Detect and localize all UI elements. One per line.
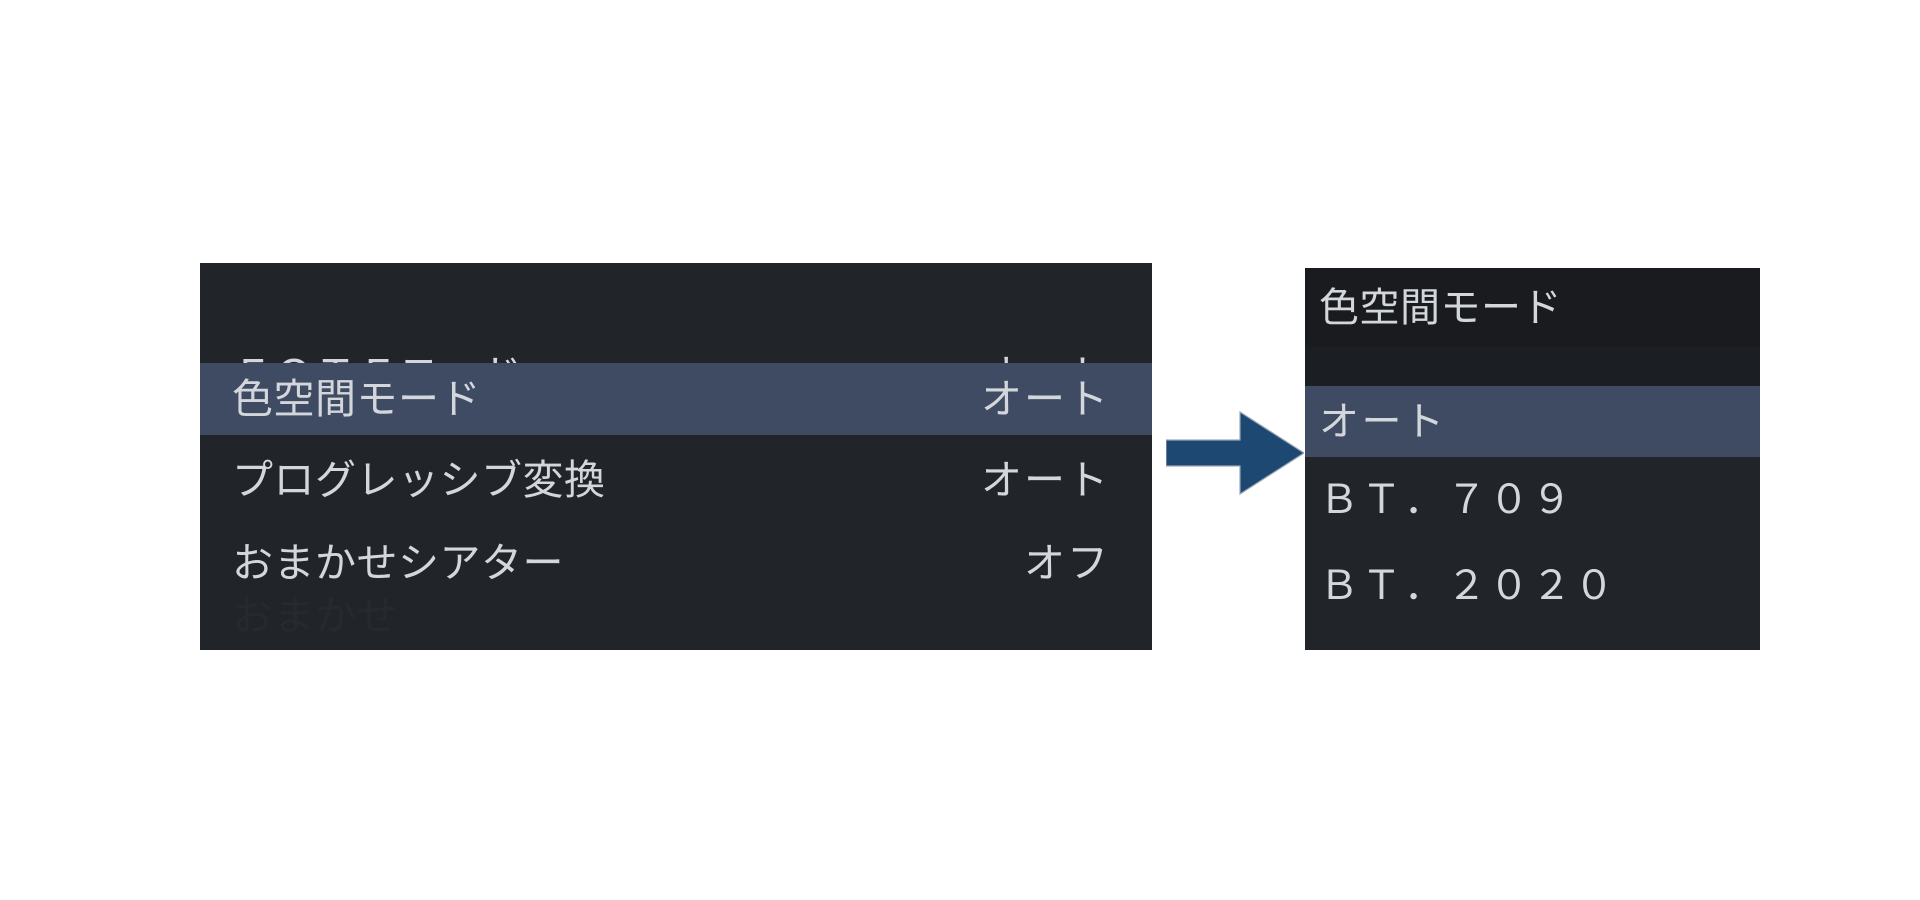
arrow-right-shape [1166,412,1304,494]
settings-menu-list: ＥＯＴＦモードオート色空間モードオートプログレッシブ変換オートおまかせシアターオ… [200,263,1152,650]
setting-row-label: おまかせシアター [232,543,564,584]
screenshot-stage: ＥＯＴＦモードオート色空間モードオートプログレッシブ変換オートおまかせシアターオ… [0,0,1920,900]
dialog-header: 色空間モード [1305,268,1760,347]
setting-row-label: 色空間モード [232,379,481,420]
dialog-title: 色空間モード [1319,288,1562,328]
option-row[interactable]: ＢＴ．７０９ [1305,457,1760,543]
setting-row-value: オート [981,379,1110,420]
option-row[interactable]: オート [1305,386,1760,457]
setting-row-partial-label: おまかせ [232,596,398,637]
color-space-mode-dialog: 色空間モード オートＢＴ．７０９ＢＴ．２０２０ [1305,268,1760,650]
arrow-right-icon [1166,408,1304,498]
settings-menu-panel: ＥＯＴＦモードオート色空間モードオートプログレッシブ変換オートおまかせシアターオ… [200,263,1152,650]
setting-row-value: オート [981,460,1110,501]
dialog-header-divider [1305,347,1760,386]
option-row-label: ＢＴ．７０９ [1319,480,1574,520]
setting-row[interactable]: 色空間モードオート [200,363,1152,435]
setting-row-partial: おまかせ [200,593,1152,639]
setting-row[interactable]: おまかせシアターオフ [200,525,1152,601]
setting-row[interactable]: プログレッシブ変換オート [200,435,1152,525]
option-row-label: オート [1319,402,1447,442]
option-row-label: ＢＴ．２０２０ [1319,566,1617,606]
setting-row-value: オフ [1024,543,1110,584]
setting-row-label: プログレッシブ変換 [232,460,606,501]
option-row[interactable]: ＢＴ．２０２０ [1305,543,1760,629]
